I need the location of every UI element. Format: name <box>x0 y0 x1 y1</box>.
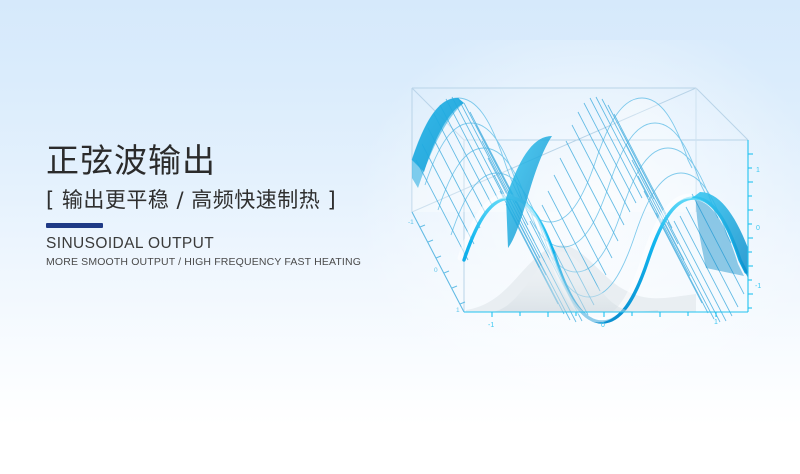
axis-y <box>412 212 465 312</box>
x-tick-1: 1 <box>714 319 718 326</box>
y-tick-1: 1 <box>456 307 460 314</box>
copy-block: 正弦波输出 [ 输出更平稳 / 高频快速制热 ] SINUSOIDAL OUTP… <box>46 141 396 269</box>
page-subtitle: [ 输出更平稳 / 高频快速制热 ] <box>46 186 396 214</box>
z-tick-0: 0 <box>756 225 760 232</box>
page-title: 正弦波输出 <box>46 141 396 181</box>
y-tick-neg1: -1 <box>408 219 414 226</box>
english-subtitle: MORE SMOOTH OUTPUT / HIGH FREQUENCY FAST… <box>46 255 396 269</box>
x-tick-0: 0 <box>601 322 605 329</box>
y-tick-0: 0 <box>434 267 438 274</box>
accent-divider <box>46 223 103 228</box>
axis-z-ticklabels: 1 0 -1 <box>755 167 761 290</box>
axis-y-ticklabels: -1 0 1 <box>408 219 460 314</box>
axis-z <box>748 140 753 312</box>
english-title: SINUSOIDAL OUTPUT <box>46 234 396 253</box>
promo-banner: 正弦波输出 [ 输出更平稳 / 高频快速制热 ] SINUSOIDAL OUTP… <box>0 0 800 474</box>
z-tick-1: 1 <box>756 167 760 174</box>
sine-surface-chart: 1 0 -1 -1 0 1 <box>396 72 768 392</box>
chart-svg: 1 0 -1 -1 0 1 <box>396 72 768 392</box>
x-tick-neg1: -1 <box>488 322 494 329</box>
z-tick-neg1: -1 <box>755 283 761 290</box>
